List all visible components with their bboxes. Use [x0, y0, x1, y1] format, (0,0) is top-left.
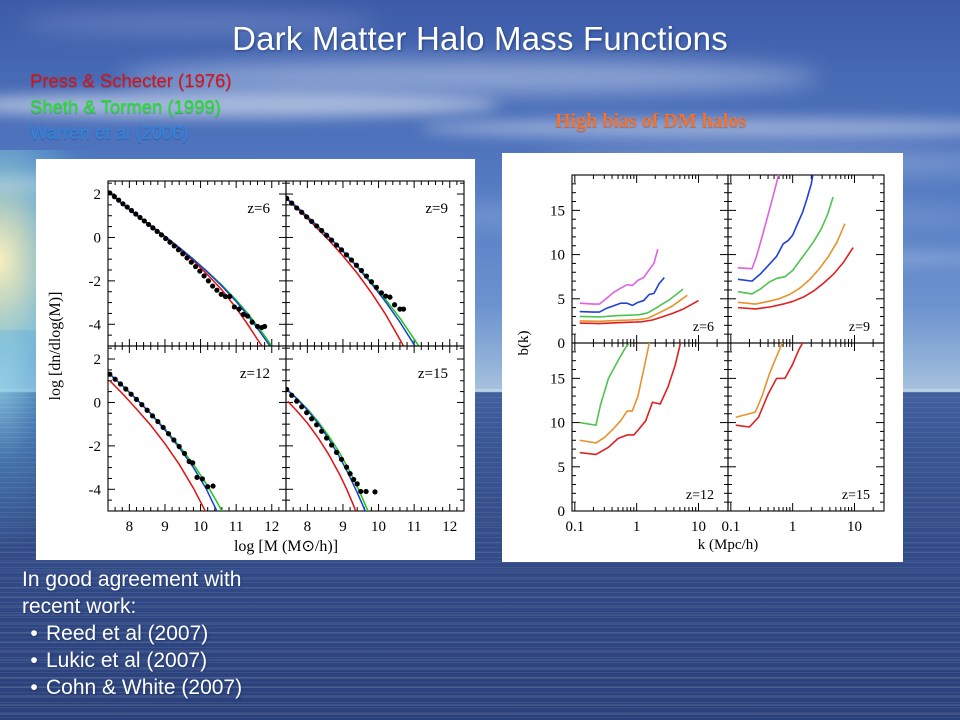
footer-bullet-label: Cohn & White (2007) — [46, 674, 242, 701]
footer-bullet-item: • Reed et al (2007) — [22, 620, 242, 647]
halo-bias-plot: z=6051015z=9z=120.1110051015z=150.1110k … — [502, 153, 903, 562]
svg-text:z=9: z=9 — [425, 201, 448, 217]
citation-label: Sheth & Tormen (1999) — [30, 96, 221, 117]
svg-text:z=9: z=9 — [849, 320, 870, 335]
svg-text:z=6: z=6 — [247, 201, 270, 217]
figure-halo-bias: z=6051015z=9z=120.1110051015z=150.1110k … — [502, 153, 903, 562]
svg-text:5: 5 — [558, 460, 566, 476]
svg-text:-4: -4 — [89, 482, 102, 498]
svg-text:-2: -2 — [89, 439, 102, 455]
svg-text:2: 2 — [94, 187, 102, 203]
svg-text:log [dn/dlog(M)]: log [dn/dlog(M)] — [47, 292, 64, 401]
svg-text:10: 10 — [847, 519, 862, 535]
svg-text:5: 5 — [558, 292, 566, 308]
svg-text:10: 10 — [550, 248, 565, 264]
footer-lead-line-2: recent work: — [22, 593, 242, 620]
svg-text:0: 0 — [558, 336, 566, 352]
subheading-high-bias: High bias of DM halos — [555, 110, 746, 133]
svg-text:z=12: z=12 — [240, 366, 270, 382]
footer-bullet-label: Reed et al (2007) — [46, 620, 208, 647]
bullet-icon: • — [22, 620, 46, 647]
citation-label: Warren et al (2006) — [30, 122, 189, 143]
svg-text:0.1: 0.1 — [565, 519, 584, 535]
svg-text:11: 11 — [407, 519, 421, 535]
svg-text:-2: -2 — [89, 274, 102, 290]
footer-bullet-label: Lukic et al (2007) — [46, 647, 207, 674]
svg-text:z=15: z=15 — [842, 488, 870, 503]
svg-text:b(k): b(k) — [516, 331, 532, 356]
svg-text:10: 10 — [691, 519, 706, 535]
svg-text:10: 10 — [371, 519, 386, 535]
svg-text:12: 12 — [442, 519, 457, 535]
svg-text:8: 8 — [304, 519, 312, 535]
citation-sheth-tormen: Sheth & Tormen (1999) — [30, 96, 221, 118]
slide-title: Dark Matter Halo Mass Functions — [0, 20, 960, 58]
halo-mass-function-plot: z=620-2-4z=9z=128910111220-2-4z=15891011… — [36, 159, 475, 560]
svg-text:z=15: z=15 — [418, 366, 448, 382]
svg-text:8: 8 — [126, 519, 134, 535]
citation-label: Press & Schecter (1976) — [30, 70, 232, 91]
svg-text:-4: -4 — [89, 317, 102, 333]
svg-text:2: 2 — [94, 352, 102, 368]
svg-text:0.1: 0.1 — [721, 519, 740, 535]
svg-text:0: 0 — [94, 395, 102, 411]
footer-lead-line-1: In good agreement with — [22, 566, 242, 593]
svg-text:z=12: z=12 — [686, 488, 714, 503]
svg-text:9: 9 — [161, 519, 169, 535]
svg-text:10: 10 — [550, 416, 565, 432]
svg-text:9: 9 — [339, 519, 347, 535]
svg-text:11: 11 — [229, 519, 243, 535]
citation-press-schecter: Press & Schecter (1976) — [30, 70, 232, 92]
svg-text:12: 12 — [264, 519, 279, 535]
svg-text:1: 1 — [789, 519, 797, 535]
svg-text:15: 15 — [550, 203, 565, 219]
svg-text:10: 10 — [193, 519, 208, 535]
svg-text:0: 0 — [94, 230, 102, 246]
footer-notes: In good agreement with recent work: • Re… — [22, 566, 242, 701]
citation-warren: Warren et al (2006) — [30, 122, 189, 144]
svg-text:z=6: z=6 — [693, 320, 714, 335]
bullet-icon: • — [22, 647, 46, 674]
svg-text:1: 1 — [633, 519, 641, 535]
svg-text:0: 0 — [558, 504, 566, 520]
svg-text:log [M (M⊙/h)]: log [M (M⊙/h)] — [234, 538, 338, 555]
svg-text:k (Mpc/h): k (Mpc/h) — [698, 537, 758, 553]
figure-halo-mass-function: z=620-2-4z=9z=128910111220-2-4z=15891011… — [36, 159, 475, 560]
svg-text:15: 15 — [550, 371, 565, 387]
footer-bullet-item: • Lukic et al (2007) — [22, 647, 242, 674]
footer-bullet-item: • Cohn & White (2007) — [22, 674, 242, 701]
bullet-icon: • — [22, 674, 46, 701]
